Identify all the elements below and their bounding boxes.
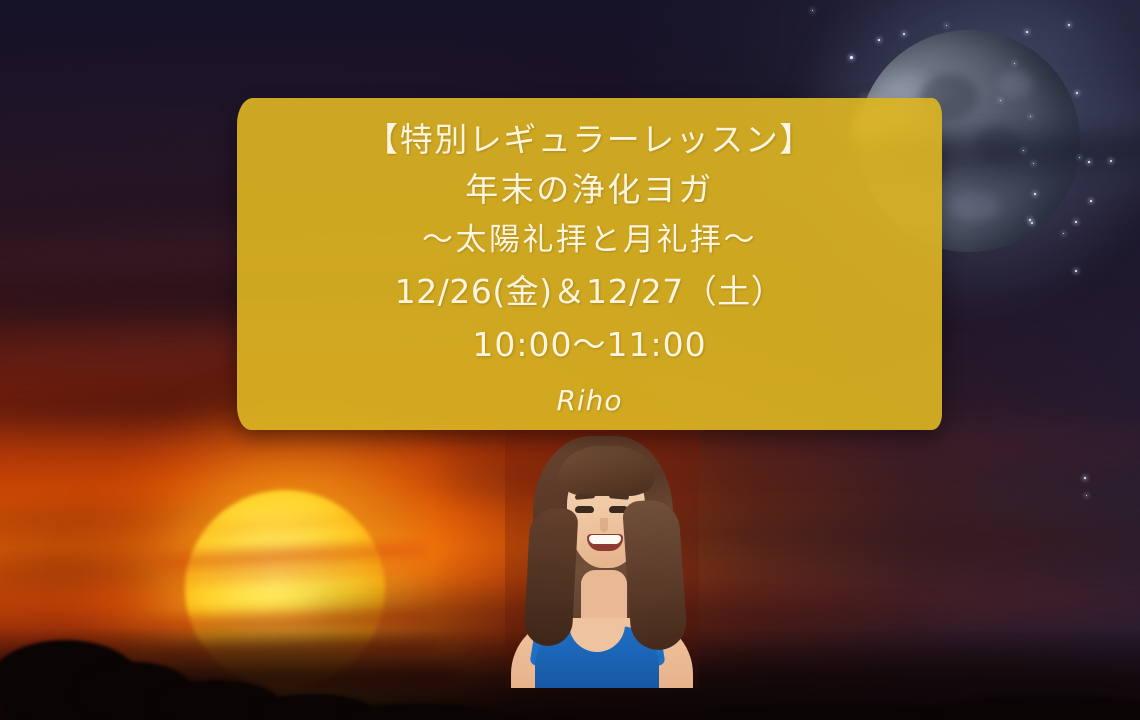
info-banner-content: 【特別レギュラーレッスン】 年末の浄化ヨガ 〜太陽礼拝と月礼拝〜 12/26(金… <box>237 98 942 430</box>
instructor-portrait <box>505 422 699 688</box>
star-icon <box>1088 161 1090 163</box>
nose <box>600 518 608 532</box>
star-icon <box>850 56 853 59</box>
yoga-lesson-flyer: 【特別レギュラーレッスン】 年末の浄化ヨガ 〜太陽礼拝と月礼拝〜 12/26(金… <box>0 0 1140 720</box>
lesson-dates: 12/26(金)＆12/27（土） <box>395 268 784 316</box>
star-icon <box>1076 92 1078 94</box>
eye-left <box>575 506 594 513</box>
star-icon <box>1068 24 1070 26</box>
star-icon <box>1075 270 1077 272</box>
smiling-mouth <box>587 534 623 551</box>
lesson-subtitle: 〜太陽礼拝と月礼拝〜 <box>422 218 757 263</box>
hair-fringe <box>559 446 655 496</box>
hair-strand-right <box>622 498 688 652</box>
hair-strand-left <box>523 507 578 647</box>
star-icon <box>1026 31 1028 33</box>
tree-silhouette <box>700 704 960 720</box>
lesson-title: 年末の浄化ヨガ <box>465 166 714 214</box>
star-icon <box>1031 222 1033 224</box>
star-icon <box>1029 219 1031 221</box>
star-icon <box>1090 200 1092 202</box>
star-icon <box>878 39 880 41</box>
tree-silhouette <box>930 696 1140 720</box>
teeth <box>589 535 621 544</box>
instructor-name: Riho <box>556 381 622 422</box>
lesson-time: 10:00〜11:00 <box>472 321 706 369</box>
lesson-category-heading: 【特別レギュラーレッスン】 <box>365 116 814 164</box>
star-icon <box>1075 221 1077 223</box>
star-icon <box>1084 477 1086 479</box>
star-icon <box>1034 193 1036 195</box>
